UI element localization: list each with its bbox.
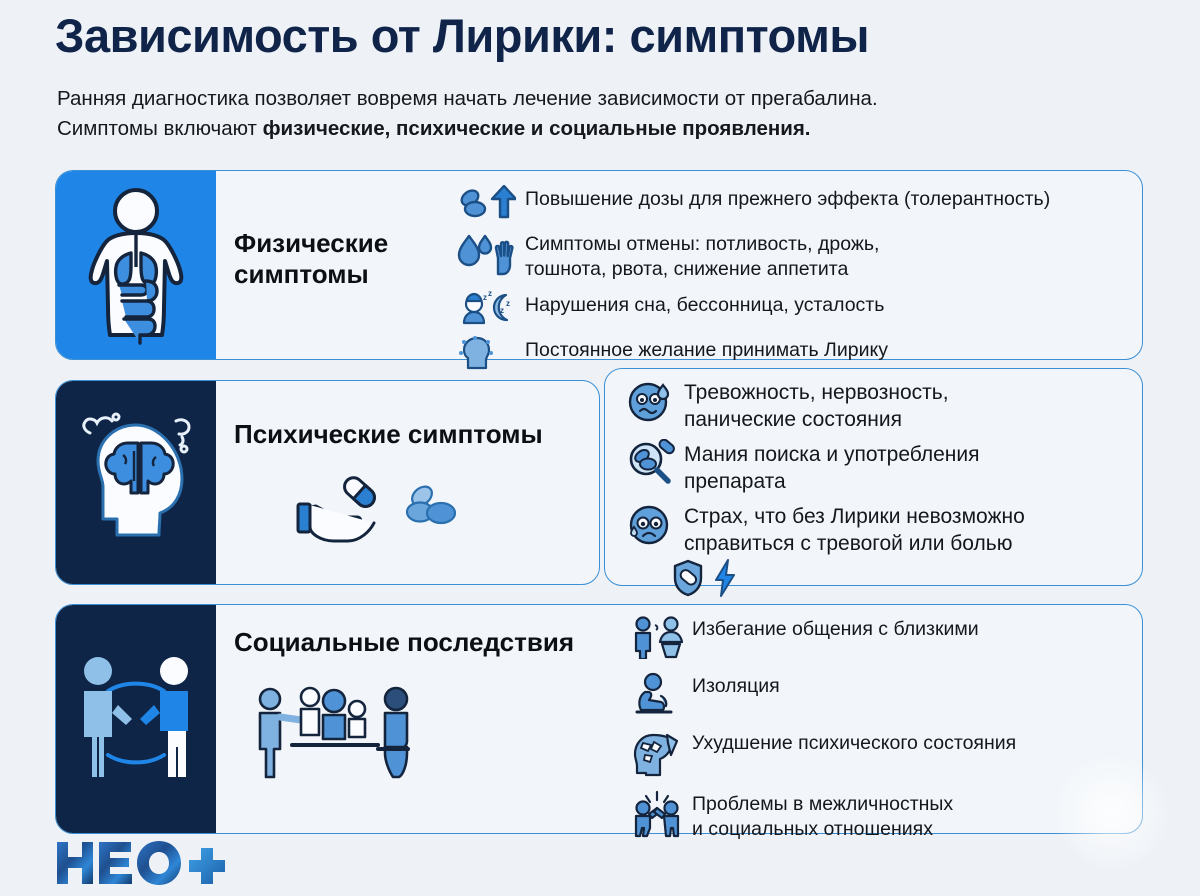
list-item: Мания поиска и употребления препарата [625, 439, 1130, 495]
subtitle-line-1: Ранняя диагностика позволяет вовремя нач… [57, 87, 878, 110]
head-brain-icon [56, 381, 216, 584]
anxious-face-icon [625, 377, 675, 430]
list-item-text: Изоляция [692, 672, 780, 699]
list-item-text: Мания поиска и употребления препарата [684, 439, 980, 495]
brand-logo [55, 838, 225, 893]
svg-text:z: z [488, 291, 492, 298]
hand-with-capsule-icon [284, 471, 394, 556]
svg-text:z: z [506, 299, 510, 308]
list-item-text: Постоянное желание принимать Лирику [525, 336, 888, 363]
list-item-text: Симптомы отмены: потливость, дрожь, тошн… [525, 230, 879, 282]
pills-up-arrow-icon [456, 185, 516, 224]
card-physical-symptoms: Физические симптомы Повышение дозы для п… [55, 170, 1143, 360]
list-item-text: Повышение дозы для прежнего эффекта (тол… [525, 185, 1050, 212]
subtitle-line-2-normal: Симптомы включают [57, 117, 263, 140]
group-avoidance-icon [244, 667, 454, 792]
card-social-title: Социальные последствия [234, 627, 574, 658]
card-mental-title: Психические симптомы [234, 419, 543, 450]
list-item-text: Тревожность, нервозность, панические сос… [684, 377, 949, 433]
worried-face-icon [625, 501, 675, 554]
list-item-text: Ухудшение психического состояния [692, 729, 1016, 756]
card-social-consequences: Социальные последствия [55, 604, 1143, 834]
svg-text:z: z [483, 293, 487, 302]
mental-symptom-list: Тревожность, нервозность, панические сос… [625, 377, 1130, 602]
page-title: Зависимость от Лирики: симптомы [55, 8, 869, 63]
avoiding-people-icon [631, 615, 683, 664]
conflict-people-icon [631, 790, 683, 843]
magnifier-pill-search-icon [625, 439, 675, 492]
card-mental-symptoms: Психические симптомы [55, 380, 600, 585]
list-item: zz zz Нарушения сна, бессонница, усталос… [456, 291, 1136, 332]
sleepless-face-moon-icon: zz zz [456, 291, 516, 332]
list-item: Тревожность, нервозность, панические сос… [625, 377, 1130, 433]
list-item: Избегание общения с близкими [631, 615, 1131, 664]
list-item: Изоляция [631, 672, 1131, 721]
card-mental-panel [56, 381, 216, 584]
list-item-text: Нарушения сна, бессонница, усталость [525, 291, 884, 318]
card-physical-panel [56, 171, 216, 359]
list-item: Ухудшение психического состояния [631, 729, 1131, 782]
list-item: Повышение дозы для прежнего эффекта (тол… [456, 185, 1136, 224]
list-item-text: Проблемы в межличностных и социальных от… [692, 790, 953, 842]
list-item: Страх, что без Лирики невозможно справит… [625, 501, 1130, 557]
infographic-page: Зависимость от Лирики: симптомы Ранняя д… [0, 0, 1200, 896]
card-physical-title: Физические симптомы [234, 228, 388, 290]
list-item: Симптомы отмены: потливость, дрожь, тошн… [456, 230, 1136, 285]
shield-pill-icon [671, 584, 705, 601]
subtitle-line-2-bold: физические, психические и социальные про… [263, 117, 811, 140]
card-social-panel [56, 605, 216, 833]
page-subtitle: Ранняя диагностика позволяет вовремя нач… [57, 84, 1147, 144]
sweat-drops-trembling-hand-icon [456, 230, 516, 285]
physical-symptom-list: Повышение дозы для прежнего эффекта (тол… [456, 185, 1136, 381]
social-consequence-list: Избегание общения с близкими Изоляция [631, 615, 1131, 849]
mental-footer-icons [671, 559, 1130, 602]
pills-icon [396, 476, 476, 541]
svg-text:z: z [500, 306, 504, 315]
mental-symptom-list-panel: Тревожность, нервозность, панические сос… [604, 368, 1143, 586]
list-item-text: Избегание общения с близкими [692, 615, 979, 642]
sitting-alone-icon [631, 672, 683, 721]
lightning-bolt-icon [709, 584, 739, 601]
craving-head-icon [456, 336, 516, 375]
human-body-organs-icon [56, 171, 216, 359]
broken-mind-head-icon [631, 729, 683, 782]
two-people-broken-bond-icon [56, 605, 216, 833]
list-item: Проблемы в межличностных и социальных от… [631, 790, 1131, 843]
list-item-text: Страх, что без Лирики невозможно справит… [684, 501, 1025, 557]
